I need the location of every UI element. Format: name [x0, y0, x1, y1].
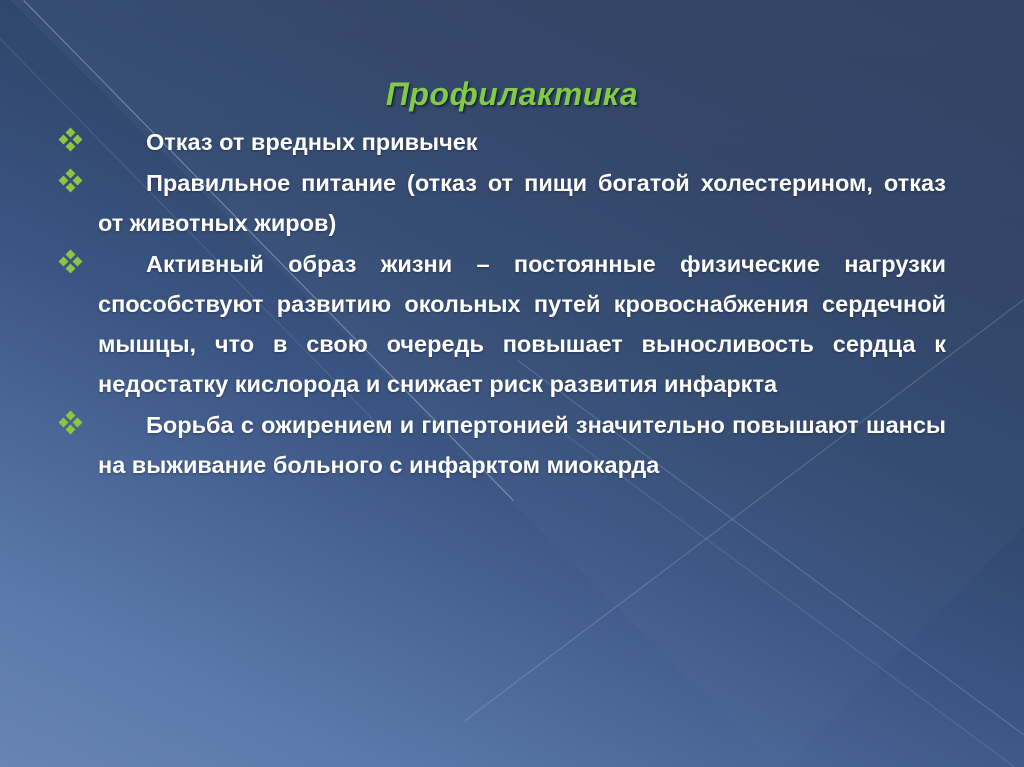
- list-item: Правильное питание (отказ от пищи богато…: [56, 163, 948, 243]
- list-item: Активный образ жизни – постоянные физиче…: [56, 244, 948, 404]
- list-item: Отказ от вредных привычек: [56, 122, 948, 162]
- list-item-text: Правильное питание (отказ от пищи богато…: [98, 163, 946, 243]
- diamond-cluster-icon: [60, 129, 82, 151]
- list-item: Борьба с ожирением и гипертонией значите…: [56, 405, 948, 485]
- diamond-cluster-icon: [60, 170, 82, 192]
- list-item-text: Активный образ жизни – постоянные физиче…: [98, 244, 946, 404]
- bullet-list: Отказ от вредных привычек Правильное пит…: [56, 122, 948, 486]
- diamond-cluster-icon: [60, 412, 82, 434]
- diamond-cluster-icon: [60, 251, 82, 273]
- list-item-text: Отказ от вредных привычек: [98, 122, 946, 162]
- list-item-text: Борьба с ожирением и гипертонией значите…: [98, 405, 946, 485]
- presentation-slide: Профилактика Отказ от вредных привычек П…: [0, 0, 1024, 767]
- page-title: Профилактика: [0, 76, 1024, 113]
